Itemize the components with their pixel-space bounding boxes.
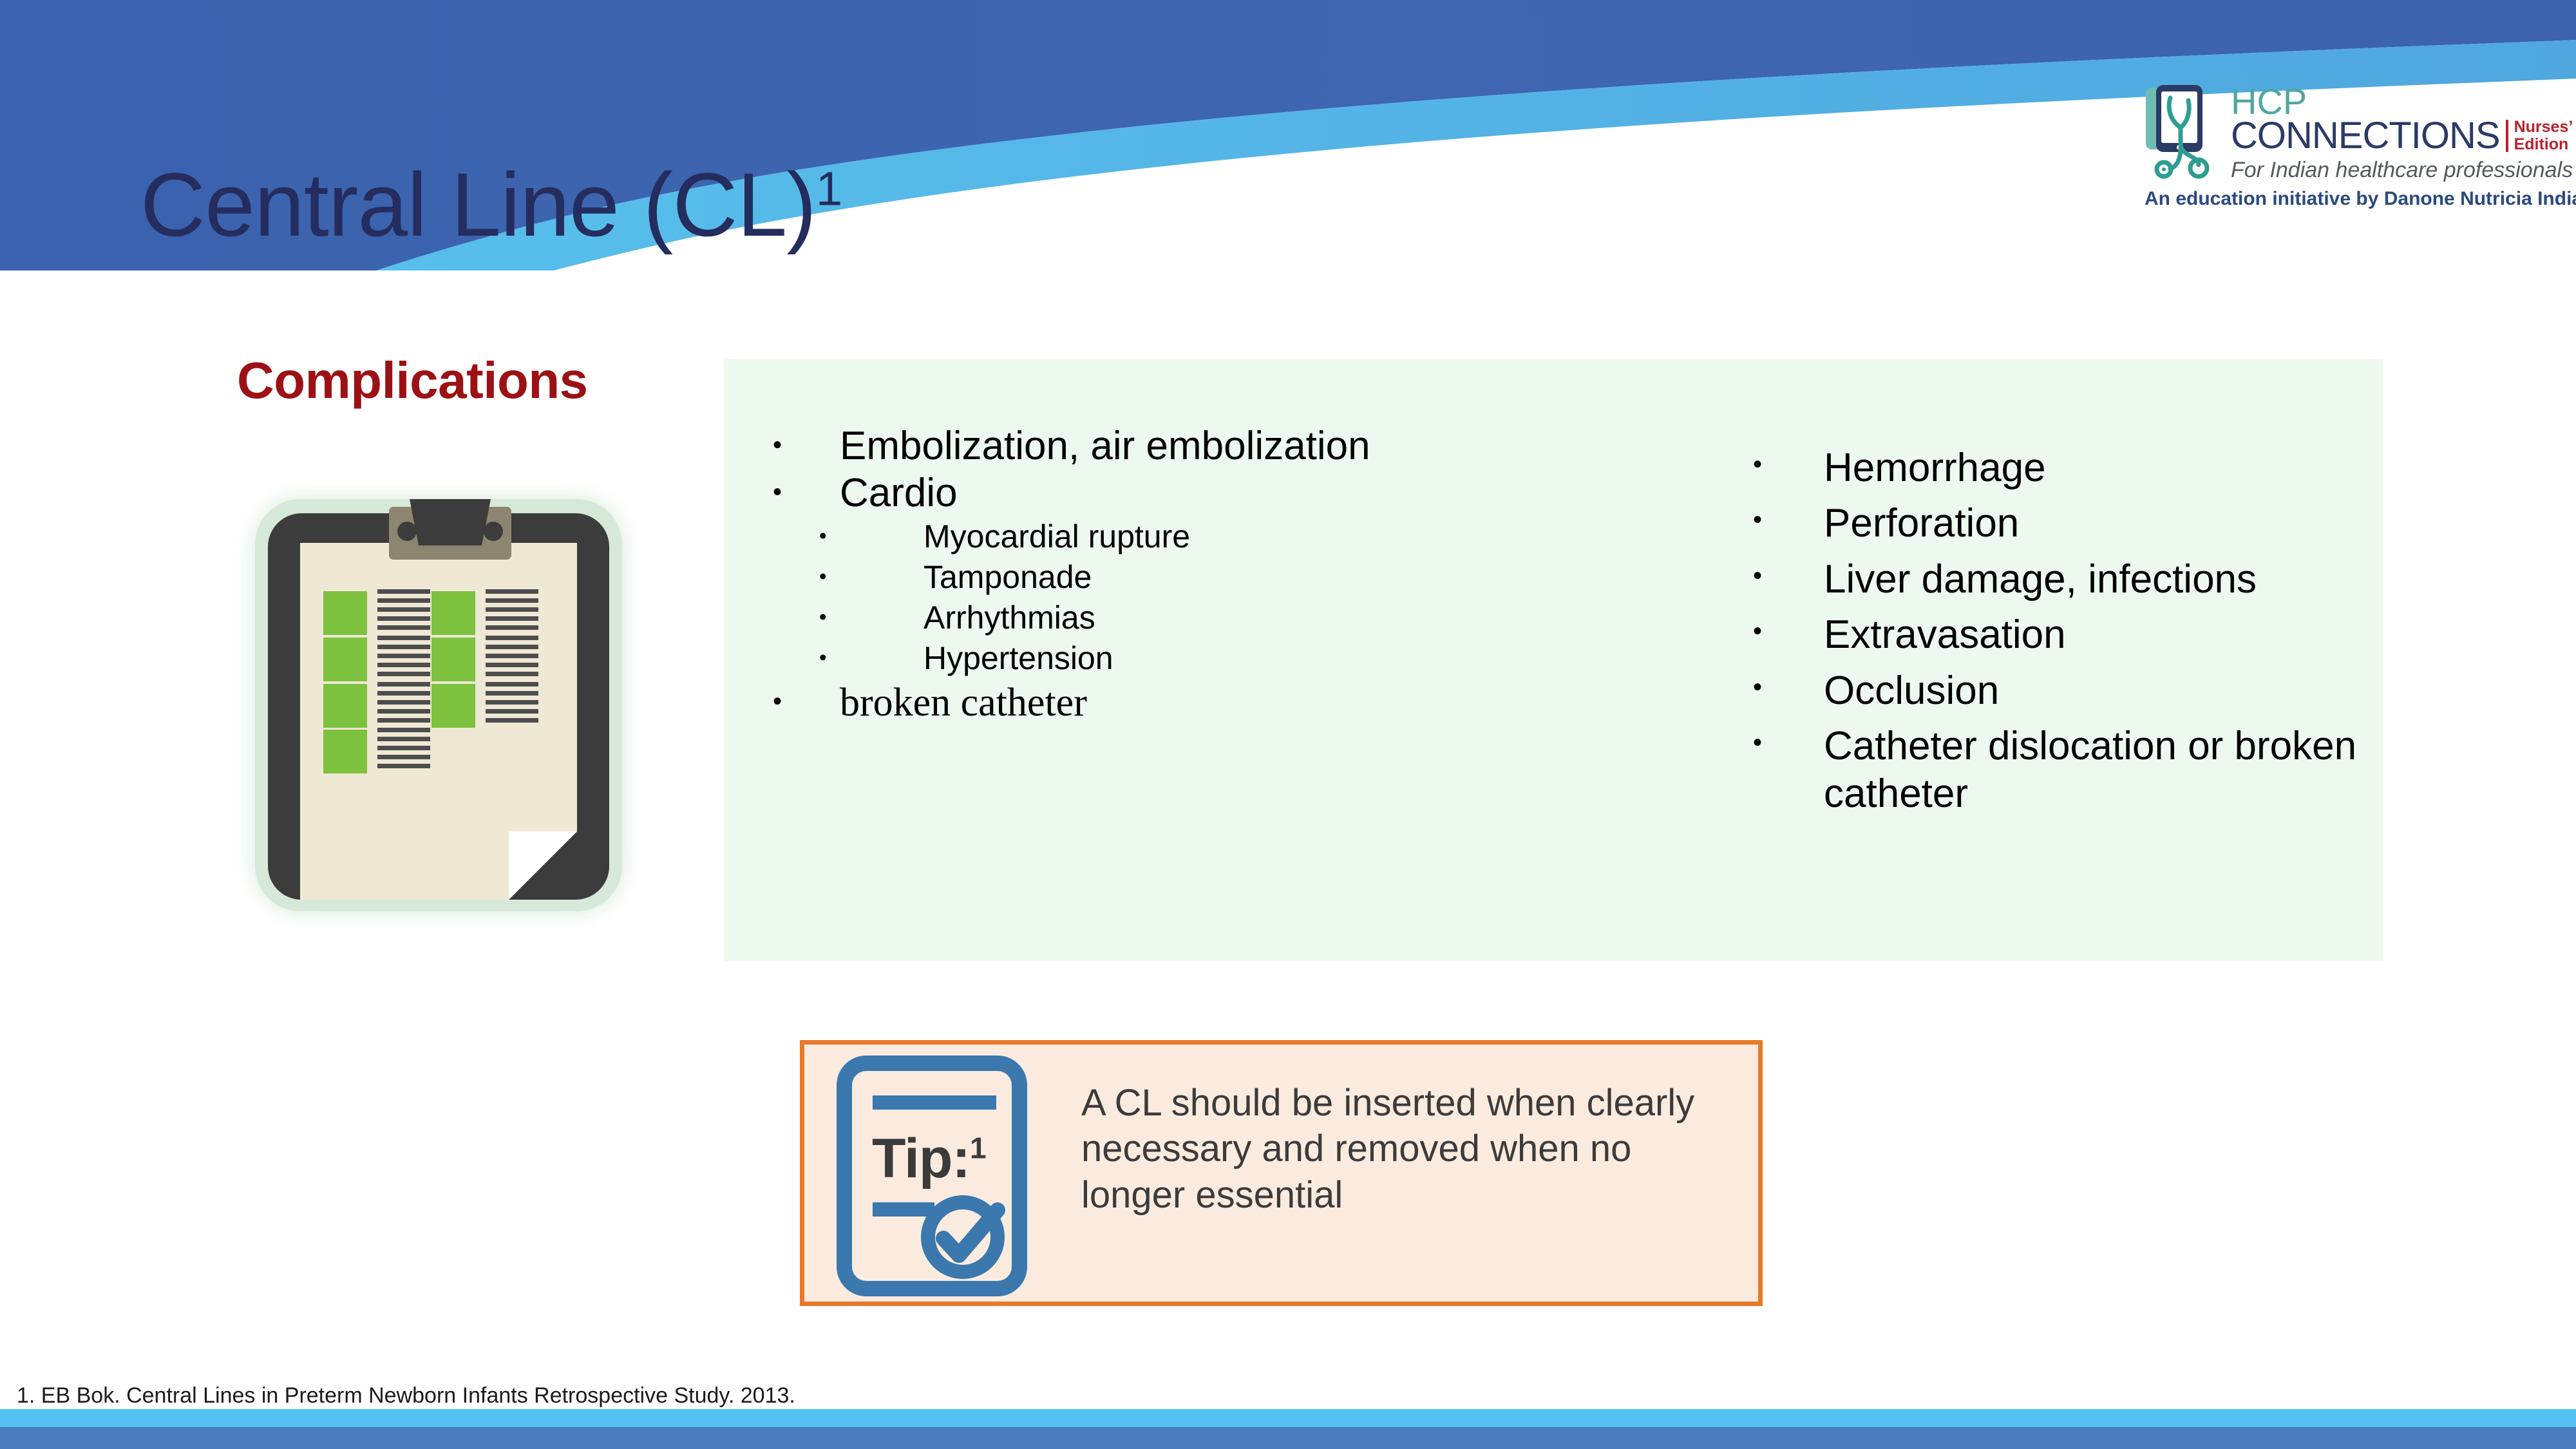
page-title-superscript: 1 (816, 162, 842, 215)
list-item-label: Hypertension (923, 641, 1662, 676)
list-item-label: Extravasation (1824, 611, 2383, 659)
list-item: •Perforation (1739, 500, 2383, 547)
footer-reference: 1. EB Bok. Central Lines in Preterm Newb… (17, 1383, 795, 1408)
logo-initiative-line: An education initiative by Danone Nutric… (2145, 188, 2557, 210)
list-item: •Catheter dislocation or broken catheter (1739, 723, 2383, 819)
list-item: •broken catheter (760, 681, 1662, 724)
tip-body-text: A CL should be inserted when clearly nec… (1081, 1080, 1725, 1218)
section-heading-complications: Complications (237, 351, 588, 410)
logo-tagline: For Indian healthcare professionals (2231, 158, 2573, 183)
bullet-dot-icon: • (1739, 500, 1824, 540)
logo-nurses-line1: Nurses’ (2514, 118, 2573, 136)
list-item-label: Cardio (840, 472, 1662, 515)
footer-bar-light (0, 1409, 2576, 1427)
footer-bar-dark (0, 1427, 2576, 1449)
bullet-dot-icon: • (1739, 611, 1824, 651)
bullet-dot-icon: • (760, 641, 923, 675)
logo-nurses-edition: Nurses’ Edition (2514, 118, 2573, 153)
bullet-dot-icon: • (760, 681, 840, 721)
tip-callout-box: Tip:1 A CL should be inserted when clear… (800, 1040, 1763, 1306)
clipboard-checklist-icon (225, 467, 650, 943)
logo-connections-text: CONNECTIONS (2231, 118, 2500, 153)
bullet-dot-icon: • (760, 519, 923, 553)
tip-label: Tip:1 (872, 1127, 986, 1191)
list-item-label: Myocardial rupture (923, 519, 1662, 554)
logo-hcp-text: HCP (2231, 85, 2573, 118)
slide-canvas: Central Line (CL)1 (0, 0, 2576, 1449)
tablet-stethoscope-icon (2145, 84, 2222, 180)
bullet-dot-icon: • (1739, 667, 1824, 707)
list-item-label: Perforation (1824, 500, 2383, 547)
tip-label-superscript: 1 (970, 1131, 986, 1164)
list-item: •Extravasation (1739, 611, 2383, 659)
list-item: •Cardio (760, 472, 1662, 515)
list-item-label: Hemorrhage (1824, 444, 2383, 492)
list-item: •Hypertension (760, 641, 1662, 676)
list-item: •Tamponade (760, 560, 1662, 595)
list-item-label: Occlusion (1824, 667, 2383, 715)
list-item-label: broken catheter (840, 681, 1662, 724)
tip-label-text: Tip: (872, 1128, 970, 1189)
list-item-label: Arrhythmias (923, 600, 1662, 636)
page-title: Central Line (CL)1 (140, 160, 842, 250)
list-item: •Embolization, air embolization (760, 425, 1662, 468)
complications-left-list: •Embolization, air embolization•Cardio•M… (760, 425, 1662, 728)
list-item-label: Catheter dislocation or broken catheter (1824, 723, 2383, 819)
list-item: •Occlusion (1739, 667, 2383, 715)
list-item-label: Tamponade (923, 560, 1662, 595)
list-item: •Hemorrhage (1739, 444, 2383, 492)
brand-logo: HCP CONNECTIONS Nurses’ Edition For Indi… (2145, 84, 2557, 210)
list-item: •Myocardial rupture (760, 519, 1662, 554)
bullet-dot-icon: • (1739, 444, 1824, 484)
list-item: •Liver damage, infections (1739, 556, 2383, 603)
logo-nurses-line2: Edition (2514, 135, 2569, 153)
bullet-dot-icon: • (1739, 723, 1824, 762)
bullet-dot-icon: • (760, 472, 840, 512)
list-item: •Arrhythmias (760, 600, 1662, 636)
list-item-label: Liver damage, infections (1824, 556, 2383, 603)
bullet-dot-icon: • (760, 600, 923, 634)
bullet-dot-icon: • (760, 560, 923, 594)
bullet-dot-icon: • (1739, 556, 1824, 596)
complications-right-list: •Hemorrhage•Perforation•Liver damage, in… (1739, 444, 2383, 826)
logo-divider (2506, 120, 2508, 152)
bullet-dot-icon: • (760, 425, 840, 465)
page-title-text: Central Line (CL) (140, 154, 816, 255)
list-item-label: Embolization, air embolization (840, 425, 1662, 468)
